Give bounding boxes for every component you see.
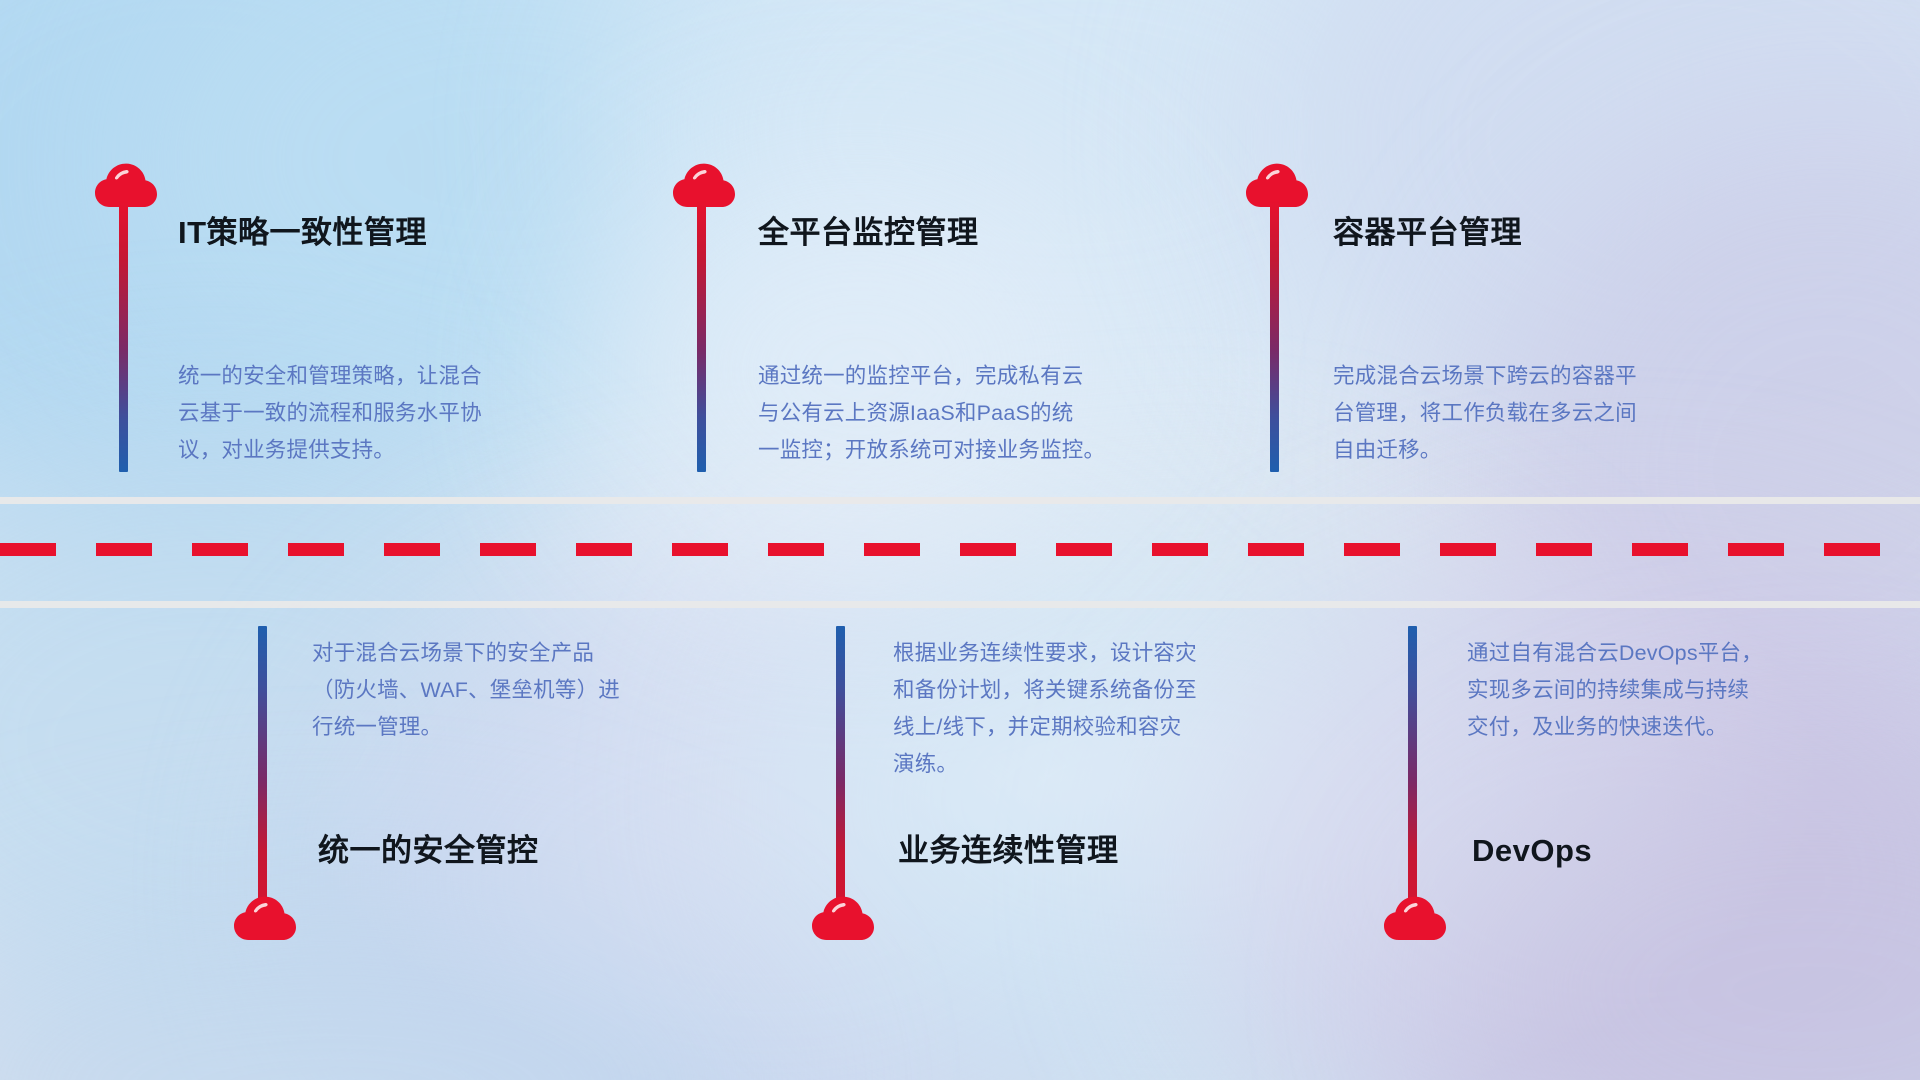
card-body: 统一的安全和管理策略，让混合 云基于一致的流程和服务水平协 议，对业务提供支持。 — [178, 358, 608, 469]
card-title: 容器平台管理 — [1333, 214, 1522, 251]
connector-stem — [119, 200, 128, 472]
card-body: 通过自有混合云DevOps平台， 实现多云间的持续集成与持续 交付，及业务的快速… — [1467, 635, 1897, 746]
card-title: DevOps — [1472, 832, 1592, 869]
card-body: 对于混合云场景下的安全产品 （防火墙、WAF、堡垒机等）进 行统一管理。 — [312, 635, 742, 746]
red-dashed-center-line — [0, 543, 1920, 556]
connector-stem — [258, 626, 267, 906]
divider-rule-bottom — [0, 601, 1920, 608]
connector-stem — [1408, 626, 1417, 906]
connector-stem — [836, 626, 845, 906]
cloud-icon — [233, 895, 297, 941]
cloud-icon — [811, 895, 875, 941]
card-title: 业务连续性管理 — [898, 832, 1119, 869]
card-title: 统一的安全管控 — [318, 832, 539, 869]
card-body: 通过统一的监控平台，完成私有云 与公有云上资源IaaS和PaaS的统 一监控；开… — [758, 358, 1208, 469]
divider-rule-top — [0, 497, 1920, 504]
infographic-canvas: IT策略一致性管理 统一的安全和管理策略，让混合 云基于一致的流程和服务水平协 … — [0, 0, 1920, 1080]
cloud-icon — [1383, 895, 1447, 941]
connector-stem — [697, 200, 706, 472]
card-title: 全平台监控管理 — [758, 214, 979, 251]
card-body: 根据业务连续性要求，设计容灾 和备份计划，将关键系统备份至 线上/线下，并定期校… — [893, 635, 1333, 783]
card-body: 完成混合云场景下跨云的容器平 台管理，将工作负载在多云之间 自由迁移。 — [1333, 358, 1773, 469]
dash-track — [0, 543, 1920, 556]
connector-stem — [1270, 200, 1279, 472]
card-title: IT策略一致性管理 — [178, 214, 427, 251]
